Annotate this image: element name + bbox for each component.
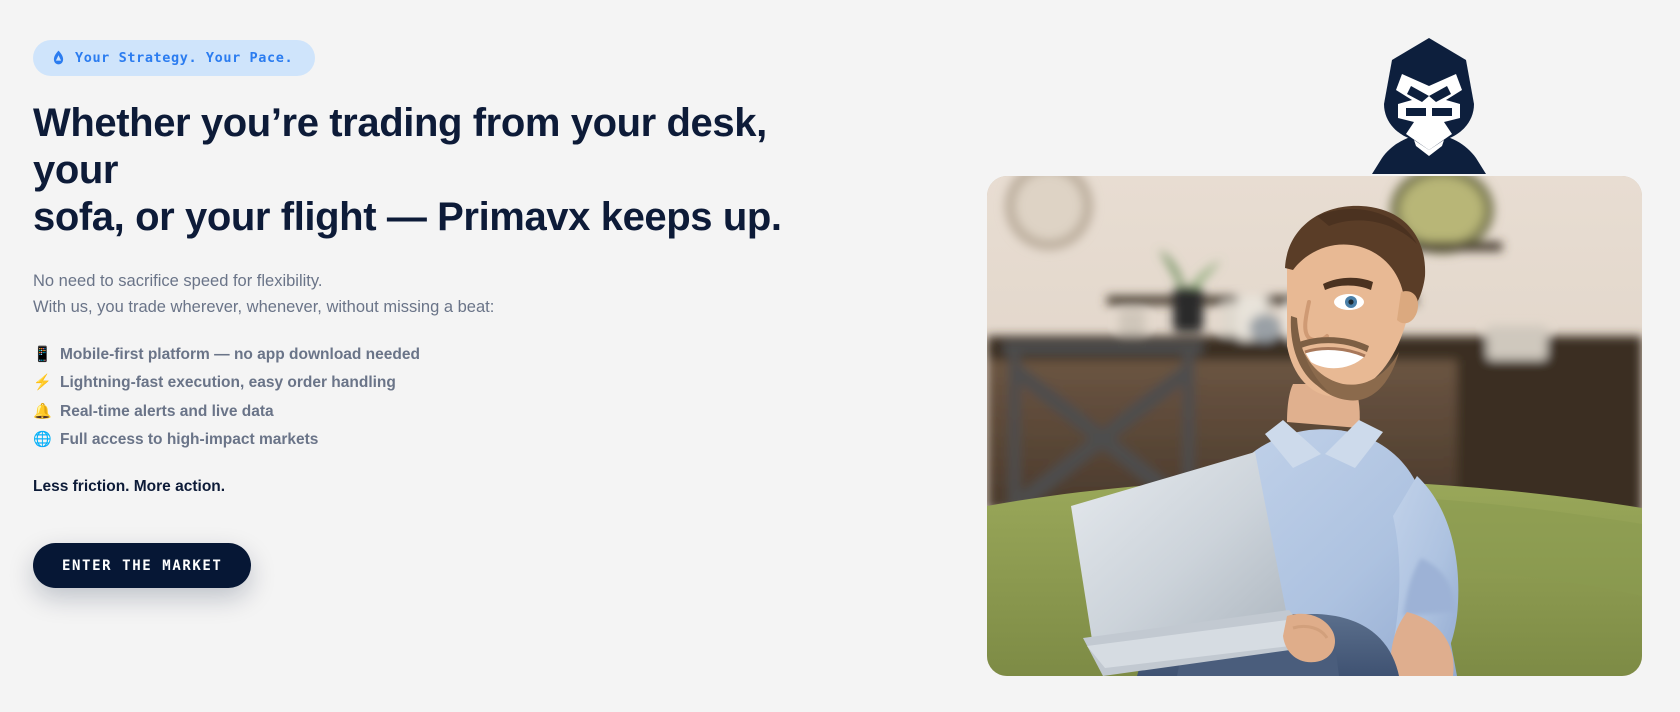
hero-content-column: Your Strategy. Your Pace. Whether you’re… [33,40,873,588]
eyebrow-text: Your Strategy. Your Pace. [75,50,293,66]
list-item: 🔔 Real-time alerts and live data [33,400,873,423]
cta-container: ENTER THE MARKET [33,543,873,588]
headline-line-1: Whether you’re trading from your desk, y… [33,100,833,194]
bell-icon: 🔔 [33,404,51,419]
subtitle-line-1: No need to sacrifice speed for flexibili… [33,268,873,295]
enter-the-market-button[interactable]: ENTER THE MARKET [33,543,251,588]
rocket-icon [51,50,66,67]
subtitle-line-2: With us, you trade wherever, whenever, w… [33,294,873,321]
feature-label: Full access to high-impact markets [60,428,318,451]
primavx-gorilla-logo [1354,34,1504,174]
mobile-phone-icon: 📱 [33,347,51,362]
list-item: ⚡ Lightning-fast execution, easy order h… [33,371,873,394]
globe-icon: 🌐 [33,432,51,447]
feature-list: 📱 Mobile-first platform — no app downloa… [33,343,873,451]
feature-label: Lightning-fast execution, easy order han… [60,371,396,394]
lightning-bolt-icon: ⚡ [33,375,51,390]
list-item: 📱 Mobile-first platform — no app downloa… [33,343,873,366]
closing-tagline: Less friction. More action. [33,478,873,496]
eyebrow-badge: Your Strategy. Your Pace. [33,40,315,76]
hero-section: Your Strategy. Your Pace. Whether you’re… [0,0,1680,712]
hero-subtitle: No need to sacrifice speed for flexibili… [33,268,873,321]
feature-label: Mobile-first platform — no app download … [60,343,420,366]
page-title: Whether you’re trading from your desk, y… [33,100,833,242]
headline-line-2: sofa, or your flight — Primavx keeps up. [33,194,833,241]
list-item: 🌐 Full access to high-impact markets [33,428,873,451]
feature-label: Real-time alerts and live data [60,400,274,423]
man-with-laptop-on-green-couch-photo [987,176,1642,676]
